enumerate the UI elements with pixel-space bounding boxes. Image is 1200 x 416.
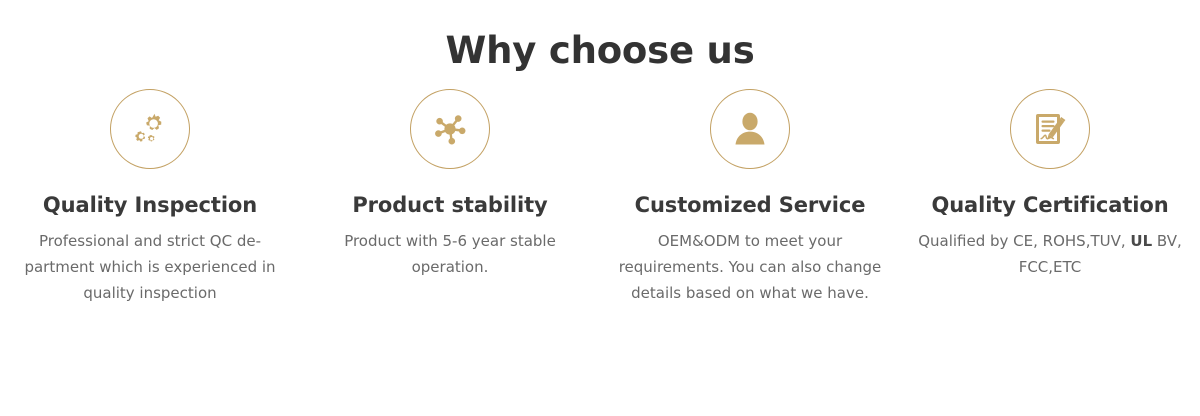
- feature-description-prefix: Qualified by CE, ROHS,TUV,: [918, 232, 1130, 250]
- feature-item-quality-certification: Quality Certification Qualified by CE, R…: [900, 89, 1200, 306]
- feature-item-quality-inspection: Quality Inspection Professional and stri…: [0, 89, 300, 306]
- feature-item-customized-service: Customized Service OEM&ODM to meet your …: [600, 89, 900, 306]
- gears-icon: [127, 106, 173, 152]
- feature-list: Quality Inspection Professional and stri…: [0, 89, 1200, 306]
- page-title: Why choose us: [0, 0, 1200, 75]
- feature-description: Qualified by CE, ROHS,TUV, UL BV, FCC,ET…: [912, 218, 1188, 280]
- feature-title: Quality Inspection: [43, 169, 257, 218]
- feature-title: Quality Certification: [931, 169, 1168, 218]
- icon-circle: [1010, 89, 1090, 169]
- person-icon: [727, 106, 773, 152]
- icon-circle: [110, 89, 190, 169]
- icon-circle: [710, 89, 790, 169]
- feature-description: OEM&ODM to meet your requirements. You c…: [612, 218, 888, 306]
- network-hub-icon: [427, 106, 473, 152]
- feature-description: Product with 5-6 year stable operation.: [312, 218, 588, 280]
- why-choose-us-section: Why choose us: [0, 0, 1200, 416]
- feature-description-emphasis: UL: [1130, 232, 1152, 250]
- feature-description: Professional and strict QC de-partment w…: [12, 218, 288, 306]
- feature-title: Product stability: [352, 169, 547, 218]
- feature-item-product-stability: Product stability Product with 5-6 year …: [300, 89, 600, 306]
- feature-title: Customized Service: [635, 169, 866, 218]
- icon-circle: [410, 89, 490, 169]
- certificate-pencil-icon: [1027, 106, 1073, 152]
